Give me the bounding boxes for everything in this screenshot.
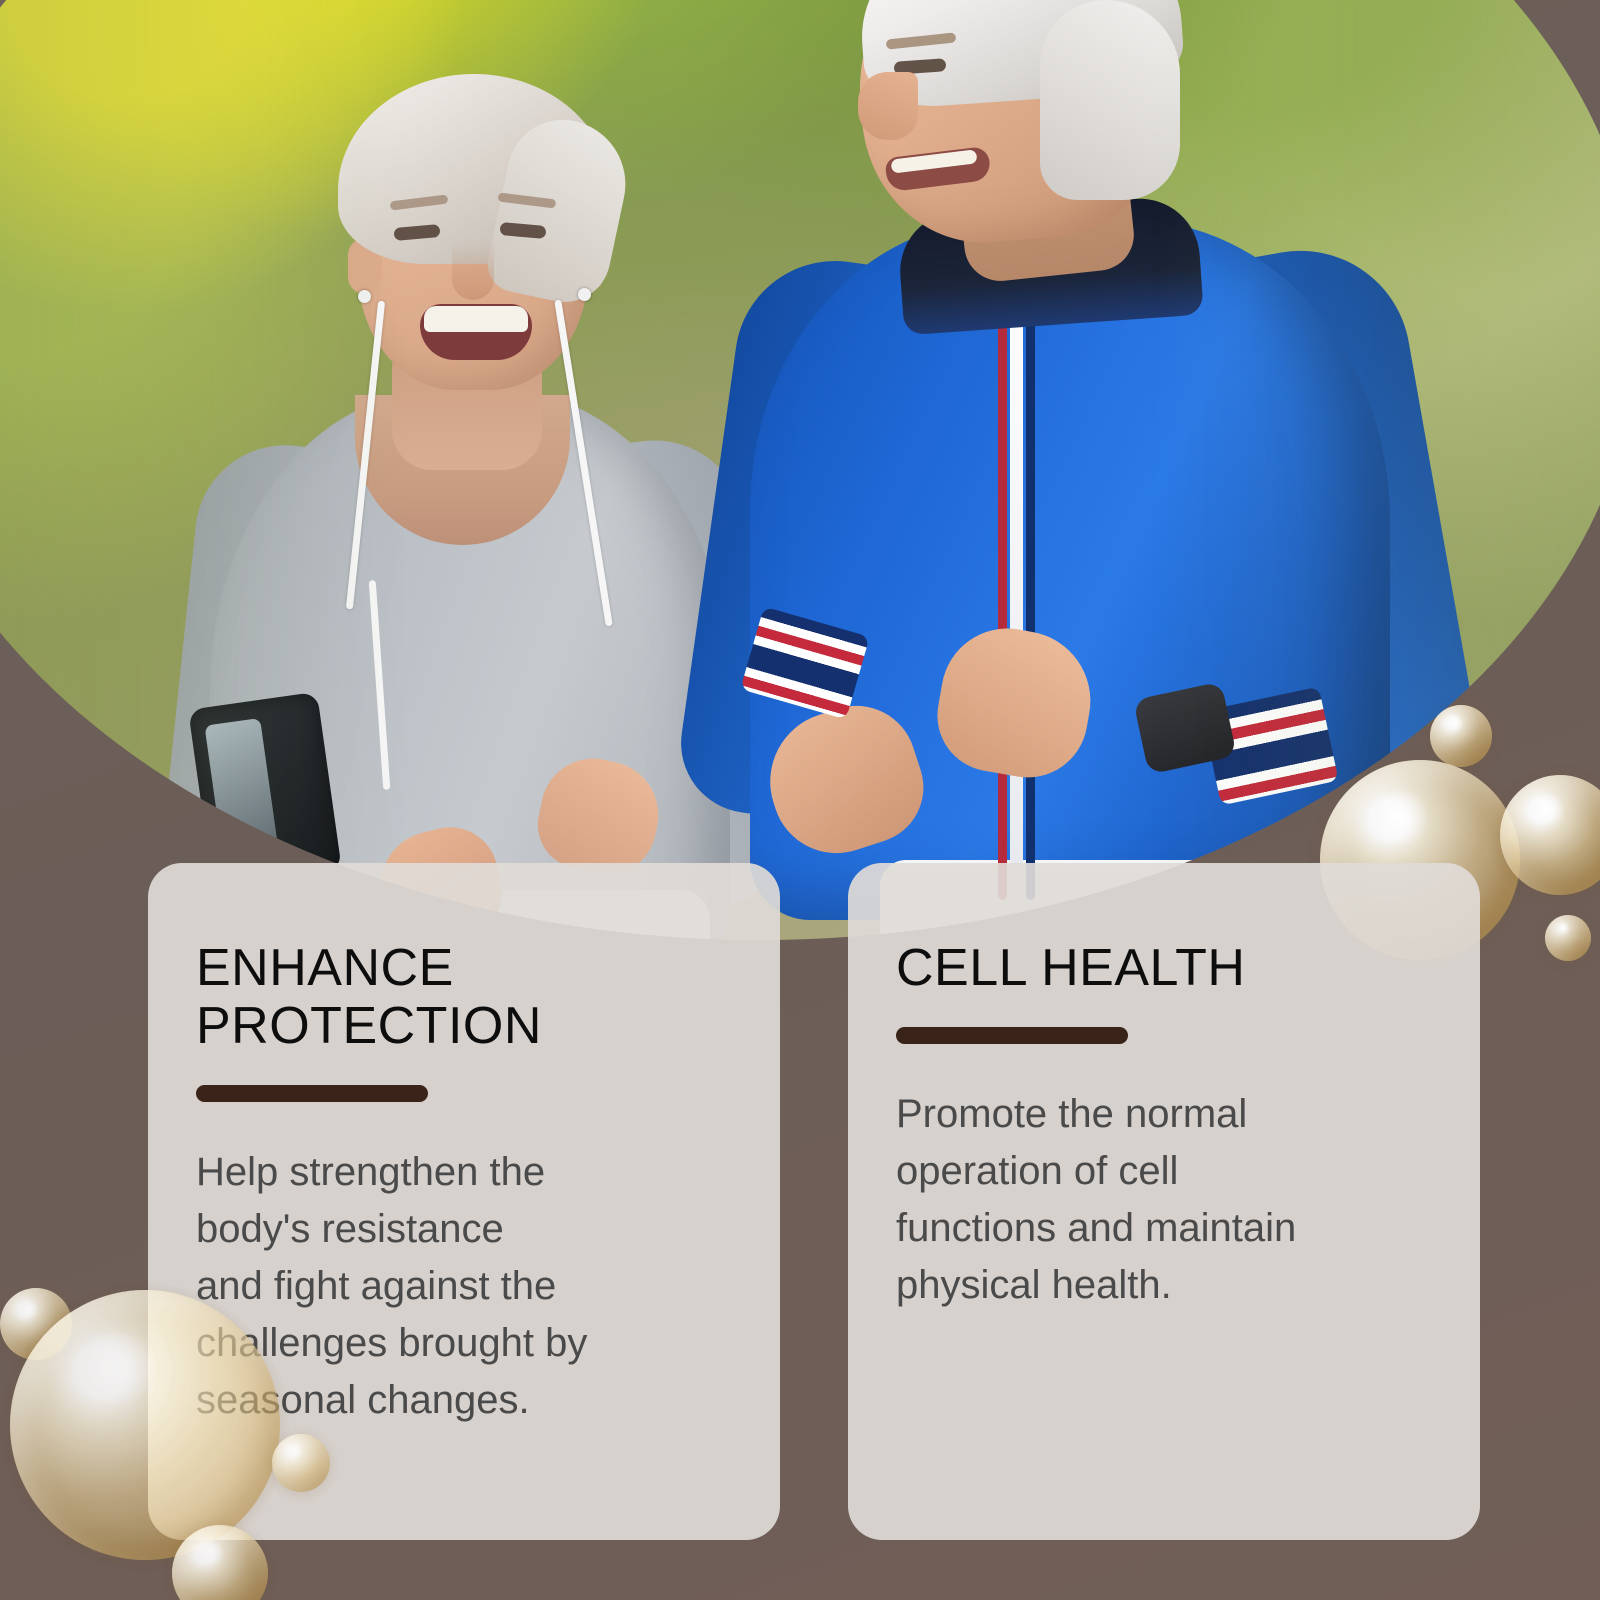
droplet-right-small (1430, 705, 1492, 767)
woman-neckline (355, 395, 570, 545)
jacket-collar (896, 195, 1204, 336)
man-left-cuff-stripes (740, 607, 869, 720)
man-right-hand (929, 618, 1102, 787)
card-title-enhance-protection: ENHANCE PROTECTION (196, 939, 732, 1055)
man-blue-jacket (750, 220, 1390, 920)
man-left-arm (672, 248, 958, 832)
woman-hair (338, 74, 610, 264)
man-left-hand (752, 690, 938, 870)
jacket-navy-trim (1026, 260, 1035, 900)
droplet-left-large (10, 1290, 280, 1560)
jacket-zipper (1010, 260, 1023, 900)
card-title-cell-health: CELL HEALTH (896, 939, 1432, 997)
droplet-right-tiny (1545, 915, 1591, 961)
man-right-cuff-stripes (1201, 687, 1338, 806)
earphone-cord-right (554, 299, 613, 626)
woman-right-eyebrow (498, 192, 557, 208)
man-face (847, 0, 1172, 253)
earphone-cord-left (346, 300, 385, 609)
phone-armband (188, 692, 342, 888)
woman-right-ear (570, 236, 604, 292)
man-eye (894, 58, 947, 75)
man-hair (854, 0, 1186, 111)
man-fitness-watch (1133, 681, 1237, 774)
woman-teeth (424, 306, 528, 332)
earphone-cord-lower (369, 580, 391, 790)
card-body-enhance-protection: Help strengthen the body's resistance an… (196, 1144, 732, 1428)
woman-right-shoulder (551, 432, 784, 919)
man-ear (1040, 80, 1084, 148)
woman-left-eye (394, 224, 441, 241)
droplet-left-mid (272, 1434, 330, 1492)
woman-face (358, 100, 588, 390)
card-divider-enhance-protection (196, 1085, 428, 1102)
woman-hair-side-sweep (483, 109, 638, 310)
man-nose (858, 72, 918, 140)
man-smiling-mouth (884, 146, 991, 192)
card-body-cell-health: Promote the normal operation of cell fun… (896, 1086, 1432, 1313)
senior-woman-jogger (180, 60, 780, 940)
woman-left-eyebrow (390, 194, 449, 210)
benefit-card-cell-health[interactable]: CELL HEALTH Promote the normal operation… (848, 863, 1480, 1540)
woman-right-earring (578, 288, 591, 301)
woman-neck (392, 310, 542, 470)
woman-left-earring (358, 290, 371, 303)
woman-right-eye (500, 222, 547, 239)
woman-left-shoulder (156, 436, 394, 923)
jacket-red-trim (998, 260, 1007, 900)
promo-poster: ENHANCE PROTECTION Help strengthen the b… (0, 0, 1600, 1600)
man-neck (953, 118, 1138, 285)
card-divider-cell-health (896, 1027, 1128, 1044)
man-hair-side (1040, 0, 1180, 200)
woman-nose (452, 242, 494, 300)
woman-gray-top (210, 390, 730, 940)
woman-left-ear (348, 238, 382, 294)
man-eyebrow (886, 32, 957, 49)
woman-smiling-mouth (420, 304, 532, 360)
